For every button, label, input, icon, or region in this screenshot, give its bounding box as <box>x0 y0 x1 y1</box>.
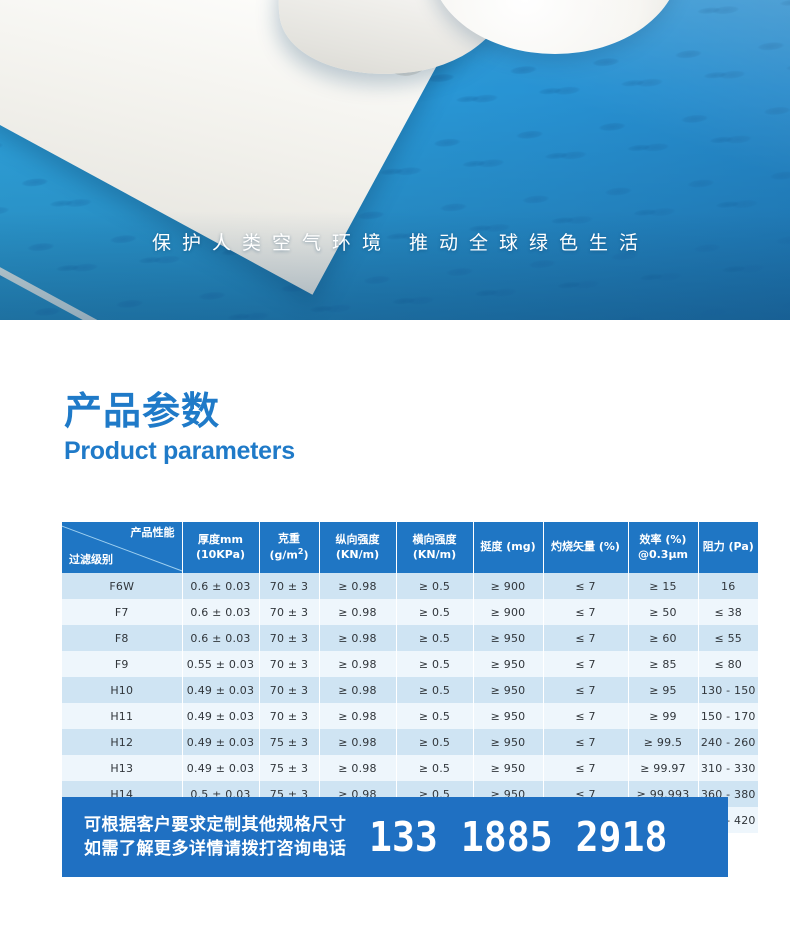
column-header-burn-vector: 灼烧矢量 (%) <box>543 522 628 573</box>
column-header-stiffness: 挺度 (mg) <box>473 522 543 573</box>
cell-efficiency: ≥ 99.5 <box>628 729 698 755</box>
cell-burn-vector: ≤ 7 <box>543 651 628 677</box>
cell-resistance: 150 - 170 <box>698 703 758 729</box>
spec-table-container: 产品性能 过滤级别 厚度mm (10KPa) 克重 (g/m2) 纵向强度 (K… <box>62 522 728 833</box>
table-row: F80.6 ± 0.0370 ± 3≥ 0.98≥ 0.5≥ 950≤ 7≥ 6… <box>62 625 758 651</box>
contact-line-2: 如需了解更多详情请拨打咨询电话 <box>84 837 347 861</box>
cell-burn-vector: ≤ 7 <box>543 573 628 599</box>
cell-filter-grade: H12 <box>62 729 182 755</box>
table-header-row: 产品性能 过滤级别 厚度mm (10KPa) 克重 (g/m2) 纵向强度 (K… <box>62 522 758 573</box>
column-header-burn-vector-l1: 灼烧矢量 (%) <box>551 540 620 553</box>
column-header-efficiency-l2: @0.3μm <box>638 548 688 561</box>
cell-resistance: ≤ 80 <box>698 651 758 677</box>
cell-resistance: 310 - 330 <box>698 755 758 781</box>
cell-thickness: 0.49 ± 0.03 <box>182 703 259 729</box>
column-header-basis-weight: 克重 (g/m2) <box>259 522 319 573</box>
cell-resistance: 16 <box>698 573 758 599</box>
column-header-thickness: 厚度mm (10KPa) <box>182 522 259 573</box>
cell-efficiency: ≥ 15 <box>628 573 698 599</box>
cell-cd-strength: ≥ 0.5 <box>396 599 473 625</box>
table-row: H130.49 ± 0.0375 ± 3≥ 0.98≥ 0.5≥ 950≤ 7≥… <box>62 755 758 781</box>
column-header-cd-strength: 横向强度 (KN/m) <box>396 522 473 573</box>
contact-phone-number[interactable]: 133 1885 2918 <box>369 817 667 858</box>
cell-thickness: 0.6 ± 0.03 <box>182 573 259 599</box>
table-row: F70.6 ± 0.0370 ± 3≥ 0.98≥ 0.5≥ 900≤ 7≥ 5… <box>62 599 758 625</box>
page-title-english: Product parameters <box>64 436 295 467</box>
table-row: F6W0.6 ± 0.0370 ± 3≥ 0.98≥ 0.5≥ 900≤ 7≥ … <box>62 573 758 599</box>
cell-md-strength: ≥ 0.98 <box>319 755 396 781</box>
cell-cd-strength: ≥ 0.5 <box>396 677 473 703</box>
cell-basis-weight: 75 ± 3 <box>259 755 319 781</box>
cell-md-strength: ≥ 0.98 <box>319 703 396 729</box>
cell-cd-strength: ≥ 0.5 <box>396 703 473 729</box>
column-header-cd-strength-l1: 横向强度 <box>413 533 457 546</box>
cell-stiffness: ≥ 950 <box>473 625 543 651</box>
cell-basis-weight: 70 ± 3 <box>259 573 319 599</box>
table-row: H120.49 ± 0.0375 ± 3≥ 0.98≥ 0.5≥ 950≤ 7≥… <box>62 729 758 755</box>
cell-md-strength: ≥ 0.98 <box>319 625 396 651</box>
contact-banner: 可根据客户要求定制其他规格尺寸 如需了解更多详情请拨打咨询电话 133 1885… <box>62 797 728 877</box>
column-header-md-strength: 纵向强度 (KN/m) <box>319 522 396 573</box>
hero-slogan: 保护人类空气环境 推动全球绿色生活 <box>0 228 790 255</box>
cell-resistance: ≤ 38 <box>698 599 758 625</box>
column-header-md-strength-l2: (KN/m) <box>336 548 379 561</box>
cell-stiffness: ≥ 950 <box>473 755 543 781</box>
cell-resistance: 130 - 150 <box>698 677 758 703</box>
section-title-block: 产品参数 Product parameters <box>64 392 295 467</box>
cell-burn-vector: ≤ 7 <box>543 599 628 625</box>
hero-banner: 保护人类空气环境 推动全球绿色生活 <box>0 0 790 320</box>
cell-md-strength: ≥ 0.98 <box>319 729 396 755</box>
corner-label-filter-grade: 过滤级别 <box>69 553 113 568</box>
column-header-cd-strength-l2: (KN/m) <box>413 548 456 561</box>
cell-thickness: 0.55 ± 0.03 <box>182 651 259 677</box>
cell-basis-weight: 70 ± 3 <box>259 703 319 729</box>
cell-filter-grade: F6W <box>62 573 182 599</box>
cell-filter-grade: F9 <box>62 651 182 677</box>
table-body: F6W0.6 ± 0.0370 ± 3≥ 0.98≥ 0.5≥ 900≤ 7≥ … <box>62 573 758 833</box>
cell-thickness: 0.49 ± 0.03 <box>182 677 259 703</box>
column-header-thickness-l2: (10KPa) <box>196 548 245 561</box>
cell-cd-strength: ≥ 0.5 <box>396 651 473 677</box>
cell-burn-vector: ≤ 7 <box>543 703 628 729</box>
contact-text-block: 可根据客户要求定制其他规格尺寸 如需了解更多详情请拨打咨询电话 <box>84 813 347 861</box>
cell-filter-grade: F8 <box>62 625 182 651</box>
cell-burn-vector: ≤ 7 <box>543 625 628 651</box>
cell-basis-weight: 70 ± 3 <box>259 599 319 625</box>
column-header-stiffness-l1: 挺度 (mg) <box>480 540 535 553</box>
corner-label-product-property: 产品性能 <box>131 526 175 541</box>
cell-thickness: 0.6 ± 0.03 <box>182 625 259 651</box>
cell-filter-grade: H10 <box>62 677 182 703</box>
column-header-efficiency: 效率 (%) @0.3μm <box>628 522 698 573</box>
cell-filter-grade: H11 <box>62 703 182 729</box>
cell-basis-weight: 75 ± 3 <box>259 729 319 755</box>
cell-md-strength: ≥ 0.98 <box>319 677 396 703</box>
column-header-thickness-l1: 厚度mm <box>198 533 243 546</box>
cell-basis-weight: 70 ± 3 <box>259 625 319 651</box>
cell-md-strength: ≥ 0.98 <box>319 651 396 677</box>
cell-efficiency: ≥ 99.97 <box>628 755 698 781</box>
cell-thickness: 0.49 ± 0.03 <box>182 729 259 755</box>
cell-burn-vector: ≤ 7 <box>543 677 628 703</box>
column-header-md-strength-l1: 纵向强度 <box>336 533 380 546</box>
column-header-resistance-l1: 阻力 (Pa) <box>703 540 754 553</box>
cell-filter-grade: H13 <box>62 755 182 781</box>
cell-cd-strength: ≥ 0.5 <box>396 755 473 781</box>
cell-burn-vector: ≤ 7 <box>543 755 628 781</box>
cell-thickness: 0.49 ± 0.03 <box>182 755 259 781</box>
cell-burn-vector: ≤ 7 <box>543 729 628 755</box>
contact-line-1: 可根据客户要求定制其他规格尺寸 <box>84 813 347 837</box>
column-header-basis-weight-l1: 克重 (g/m <box>270 532 301 562</box>
page-title-chinese: 产品参数 <box>64 392 295 432</box>
cell-stiffness: ≥ 950 <box>473 651 543 677</box>
cell-efficiency: ≥ 60 <box>628 625 698 651</box>
cell-efficiency: ≥ 50 <box>628 599 698 625</box>
cell-thickness: 0.6 ± 0.03 <box>182 599 259 625</box>
cell-basis-weight: 70 ± 3 <box>259 651 319 677</box>
cell-filter-grade: F7 <box>62 599 182 625</box>
cell-resistance: 240 - 260 <box>698 729 758 755</box>
cell-efficiency: ≥ 99 <box>628 703 698 729</box>
hero-shading-overlay <box>0 0 790 320</box>
cell-resistance: ≤ 55 <box>698 625 758 651</box>
table-row: H110.49 ± 0.0370 ± 3≥ 0.98≥ 0.5≥ 950≤ 7≥… <box>62 703 758 729</box>
table-header: 产品性能 过滤级别 厚度mm (10KPa) 克重 (g/m2) 纵向强度 (K… <box>62 522 758 573</box>
cell-stiffness: ≥ 950 <box>473 677 543 703</box>
product-parameters-table: 产品性能 过滤级别 厚度mm (10KPa) 克重 (g/m2) 纵向强度 (K… <box>62 522 758 833</box>
table-corner-header: 产品性能 过滤级别 <box>62 522 182 573</box>
cell-cd-strength: ≥ 0.5 <box>396 625 473 651</box>
cell-cd-strength: ≥ 0.5 <box>396 573 473 599</box>
cell-md-strength: ≥ 0.98 <box>319 573 396 599</box>
cell-basis-weight: 70 ± 3 <box>259 677 319 703</box>
column-header-efficiency-l1: 效率 (%) <box>640 533 687 546</box>
column-header-resistance: 阻力 (Pa) <box>698 522 758 573</box>
table-row: F90.55 ± 0.0370 ± 3≥ 0.98≥ 0.5≥ 950≤ 7≥ … <box>62 651 758 677</box>
column-header-basis-weight-l2: ) <box>303 548 308 561</box>
cell-stiffness: ≥ 900 <box>473 573 543 599</box>
cell-stiffness: ≥ 950 <box>473 703 543 729</box>
cell-stiffness: ≥ 950 <box>473 729 543 755</box>
cell-stiffness: ≥ 900 <box>473 599 543 625</box>
cell-cd-strength: ≥ 0.5 <box>396 729 473 755</box>
table-row: H100.49 ± 0.0370 ± 3≥ 0.98≥ 0.5≥ 950≤ 7≥… <box>62 677 758 703</box>
cell-efficiency: ≥ 85 <box>628 651 698 677</box>
cell-md-strength: ≥ 0.98 <box>319 599 396 625</box>
cell-efficiency: ≥ 95 <box>628 677 698 703</box>
